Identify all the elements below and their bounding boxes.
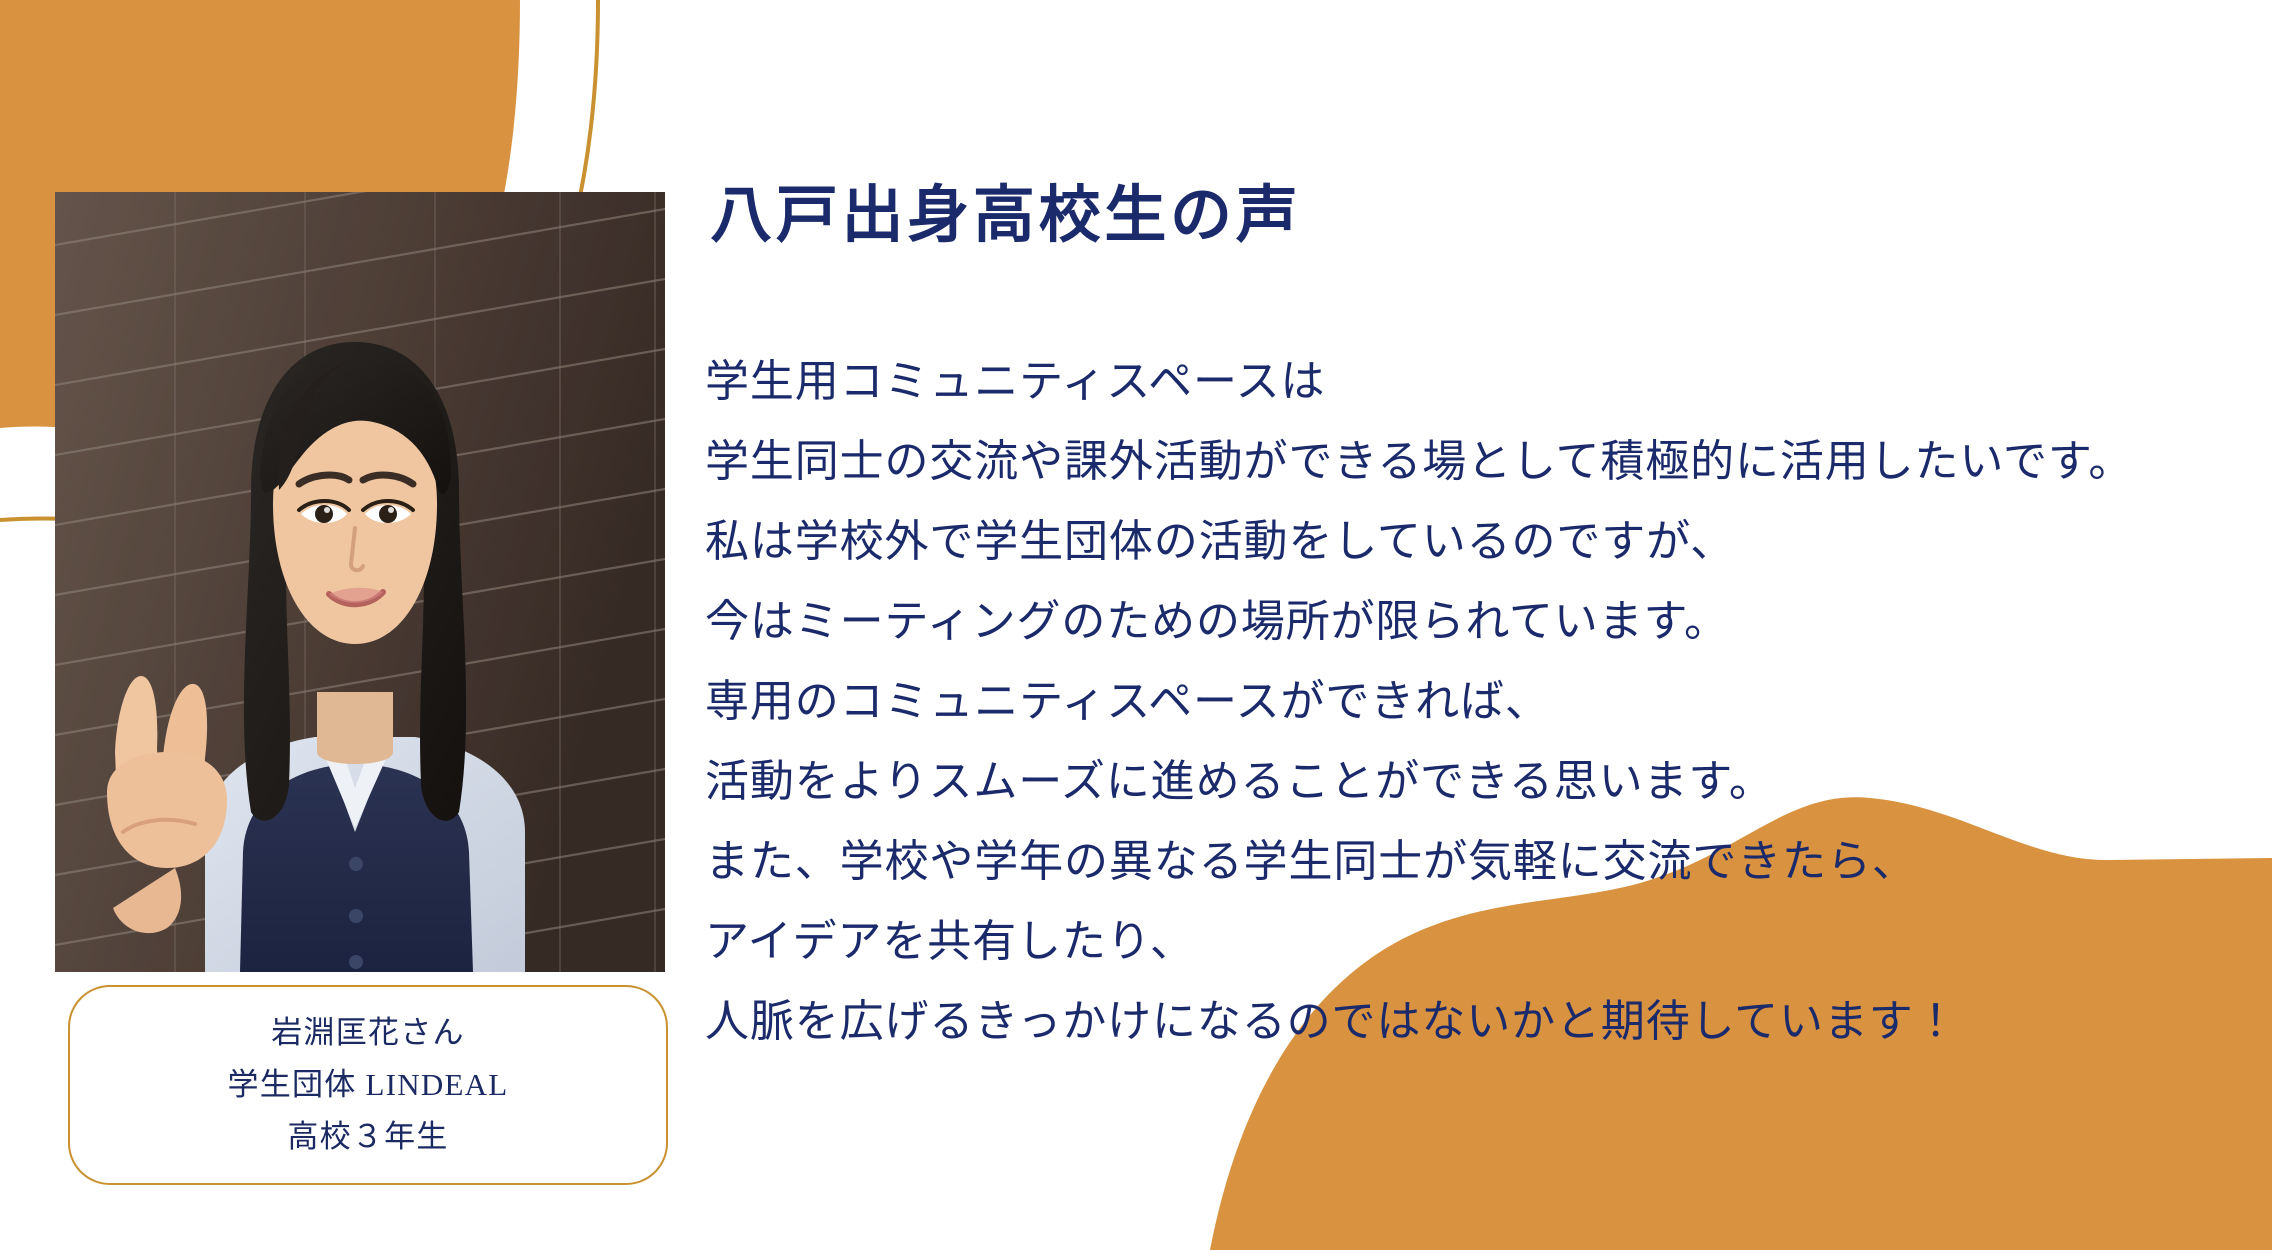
testimonial-line: また、学校や学年の異なる学生同士が気軽に交流できたら、 (705, 822, 2225, 902)
testimonial-line: 私は学校外で学生団体の活動をしているのですが、 (705, 502, 2225, 582)
testimonial-body: 学生用コミュニティスペースは 学生同士の交流や課外活動ができる場として積極的に活… (705, 342, 2225, 1062)
testimonial-line: 専用のコミュニティスペースができれば、 (705, 662, 2225, 742)
student-caption-box: 岩淵匡花さん 学生団体 LINDEAL 高校３年生 (68, 985, 668, 1185)
slide-canvas: 岩淵匡花さん 学生団体 LINDEAL 高校３年生 八戸出身高校生の声 学生用コ… (0, 0, 2272, 1250)
testimonial-line: 活動をよりスムーズに進めることができる思います。 (705, 742, 2225, 822)
testimonial-line: 学生用コミュニティスペースは (705, 342, 2225, 422)
page-title: 八戸出身高校生の声 (710, 182, 1301, 250)
student-photo-image (55, 192, 665, 972)
student-photo (55, 192, 665, 972)
testimonial-line: 学生同士の交流や課外活動ができる場として積極的に活用したいです。 (705, 422, 2225, 502)
caption-organization: 学生団体 LINDEAL (228, 1064, 509, 1106)
testimonial-line: アイデアを共有したり、 (705, 902, 2225, 982)
testimonial-line: 人脈を広げるきっかけになるのではないかと期待しています！ (705, 982, 2225, 1062)
caption-name: 岩淵匡花さん (271, 1012, 464, 1054)
caption-grade: 高校３年生 (287, 1116, 448, 1158)
testimonial-line: 今はミーティングのための場所が限られています。 (705, 582, 2225, 662)
